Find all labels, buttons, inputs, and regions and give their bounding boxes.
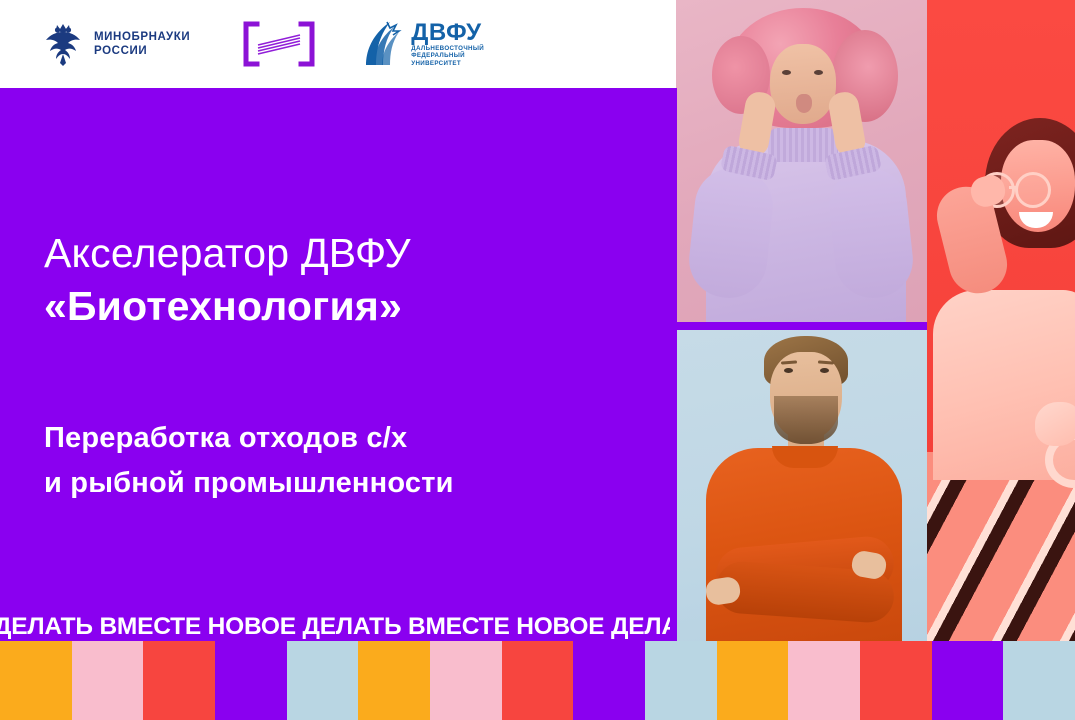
poster: МИНОБРНАУКИ РОССИИ bbox=[0, 0, 1075, 720]
eye-right bbox=[814, 70, 823, 75]
sunglasses-bridge bbox=[1009, 186, 1018, 189]
striped-skirt bbox=[927, 452, 1075, 641]
stripe-segment bbox=[932, 641, 1004, 720]
minobrnauki-line1: МИНОБРНАУКИ bbox=[94, 30, 190, 44]
header-logo-bar: МИНОБРНАУКИ РОССИИ bbox=[0, 0, 676, 88]
purple-bracket-icon bbox=[240, 18, 318, 70]
stripe-segment bbox=[717, 641, 789, 720]
marquee-strip: ДЕЛАТЬ ВМЕСТЕ НОВОЕ ДЕЛАТЬ ВМЕСТЕ НОВОЕ … bbox=[0, 613, 676, 641]
photo-woman-pink-hair bbox=[676, 0, 927, 322]
stripe-segment bbox=[215, 641, 287, 720]
stripe-segment bbox=[143, 641, 215, 720]
minobrnauki-line2: РОССИИ bbox=[94, 44, 190, 58]
subtitle-block: Переработка отходов с/х и рыбной промышл… bbox=[44, 416, 654, 506]
dvfu-line3: УНИВЕРСИТЕТ bbox=[411, 60, 484, 68]
stripe-segment bbox=[0, 641, 72, 720]
minobrnauki-logo: МИНОБРНАУКИ РОССИИ bbox=[42, 21, 190, 67]
blouse-knot bbox=[1035, 402, 1075, 446]
page-title-line2: «Биотехнология» bbox=[44, 278, 654, 334]
marquee-text: ДЕЛАТЬ ВМЕСТЕ НОВОЕ ДЕЛАТЬ ВМЕСТЕ НОВОЕ … bbox=[0, 613, 676, 641]
eye-left bbox=[782, 70, 791, 75]
main-purple-panel: Акселератор ДВФУ «Биотехнология» Перераб… bbox=[0, 88, 676, 641]
man-eye-right bbox=[820, 368, 829, 373]
sunglasses-lens-right bbox=[1015, 172, 1051, 208]
stripe-segment bbox=[645, 641, 717, 720]
dvfu-abbr: ДВФУ bbox=[411, 21, 484, 45]
photo-man-orange-sweater bbox=[676, 330, 927, 641]
bottom-stripe-row bbox=[0, 641, 1075, 720]
tongue bbox=[796, 94, 812, 113]
title-block: Акселератор ДВФУ «Биотехнология» bbox=[44, 228, 654, 334]
stripe-segment bbox=[502, 641, 574, 720]
stripe-segment bbox=[358, 641, 430, 720]
stripe-segment bbox=[287, 641, 359, 720]
stripe-segment bbox=[788, 641, 860, 720]
bracket-logo bbox=[240, 18, 318, 70]
logo-group: МИНОБРНАУКИ РОССИИ bbox=[0, 18, 484, 70]
dvfu-label: ДВФУ ДАЛЬНЕВОСТОЧНЫЙ ФЕДЕРАЛЬНЫЙ УНИВЕРС… bbox=[411, 21, 484, 68]
dvfu-line2: ФЕДЕРАЛЬНЫЙ bbox=[411, 52, 484, 60]
dvfu-wave-icon bbox=[360, 19, 404, 69]
woman-face bbox=[770, 44, 836, 124]
stripe-segment bbox=[72, 641, 144, 720]
subtitle-line1: Переработка отходов с/х bbox=[44, 416, 654, 461]
stripe-segment bbox=[1003, 641, 1075, 720]
stripe-segment bbox=[860, 641, 932, 720]
double-headed-eagle-icon bbox=[42, 21, 84, 67]
minobrnauki-label: МИНОБРНАУКИ РОССИИ bbox=[94, 30, 190, 58]
dvfu-logo: ДВФУ ДАЛЬНЕВОСТОЧНЫЙ ФЕДЕРАЛЬНЫЙ УНИВЕРС… bbox=[360, 19, 484, 69]
photo-woman-glasses-red bbox=[927, 0, 1075, 641]
photo-collage bbox=[676, 0, 1075, 641]
man-eye-left bbox=[784, 368, 793, 373]
stripe-segment bbox=[573, 641, 645, 720]
man-beard bbox=[774, 396, 838, 444]
page-title-line1: Акселератор ДВФУ bbox=[44, 228, 654, 278]
purple-edge-sliver bbox=[670, 88, 677, 641]
subtitle-line2: и рыбной промышленности bbox=[44, 461, 654, 506]
stripe-segment bbox=[430, 641, 502, 720]
